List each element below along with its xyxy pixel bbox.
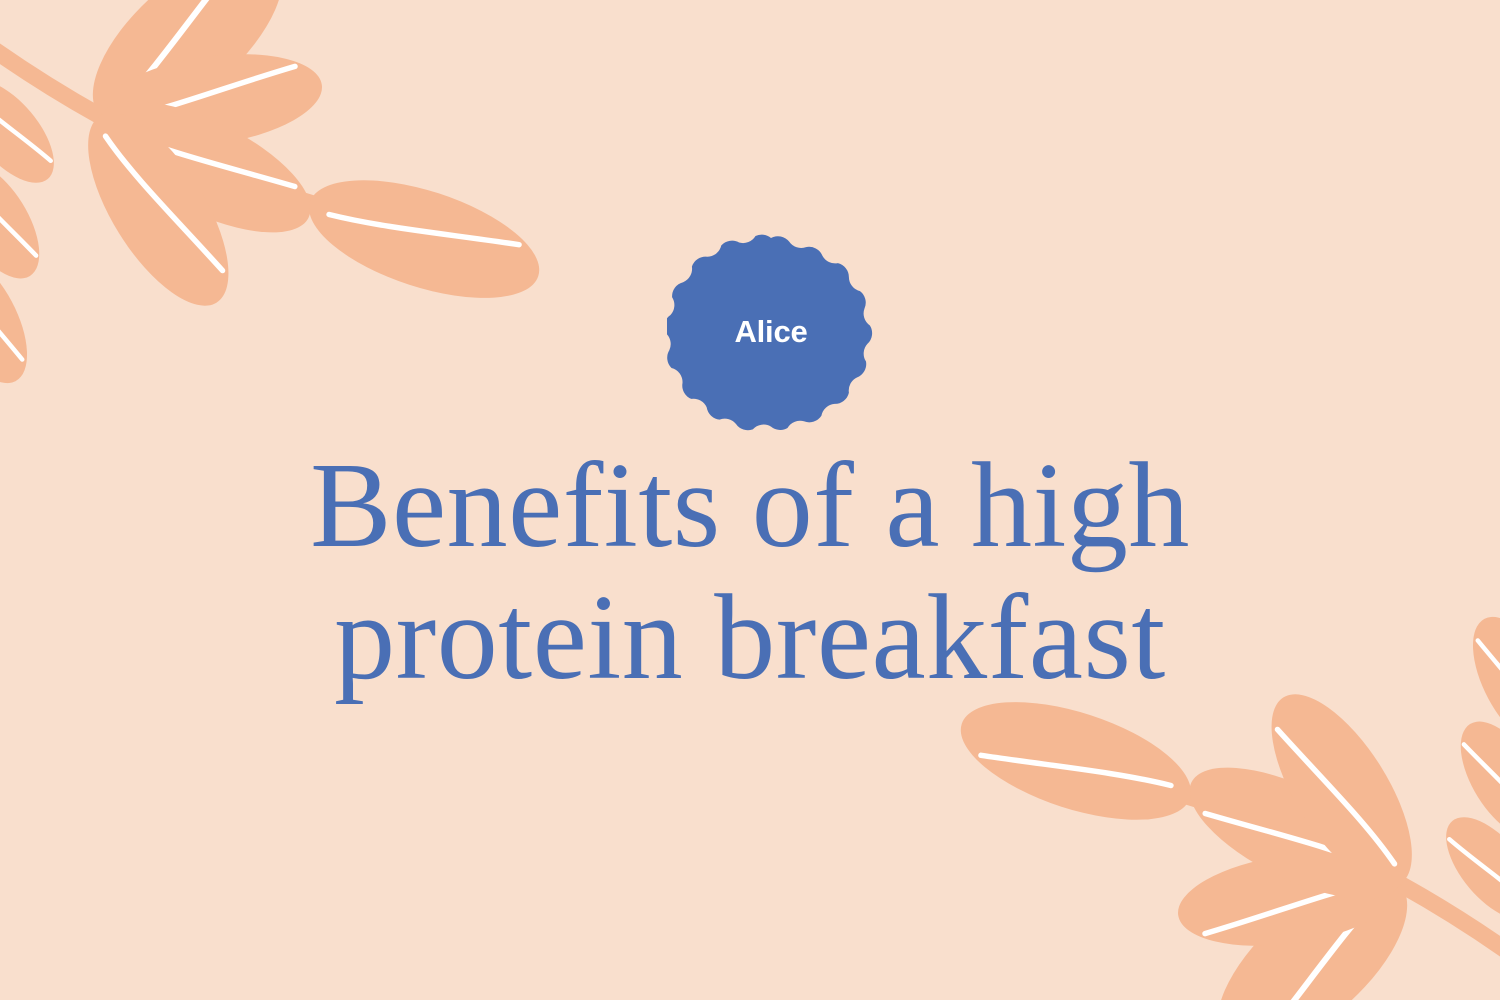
author-badge: Alice xyxy=(667,227,875,435)
page-title-line-1: Benefits of a high xyxy=(0,440,1500,572)
leaf-upper-sweep xyxy=(1184,965,1500,1000)
leaf-upper-sweep xyxy=(0,0,316,35)
leaf-branch-top-left-ornament xyxy=(0,0,470,374)
page-title: Benefits of a high protein breakfast xyxy=(0,440,1500,704)
ornament-leaves-group xyxy=(0,0,553,397)
leaf-cluster-small-right xyxy=(0,65,71,397)
leaf-cluster-large xyxy=(61,0,553,327)
slide-canvas: Alice Benefits of a high protein breakfa… xyxy=(0,0,1500,1000)
page-title-line-2: protein breakfast xyxy=(0,572,1500,704)
leaf-cluster-large xyxy=(947,673,1439,1000)
author-badge-label: Alice xyxy=(667,227,875,435)
